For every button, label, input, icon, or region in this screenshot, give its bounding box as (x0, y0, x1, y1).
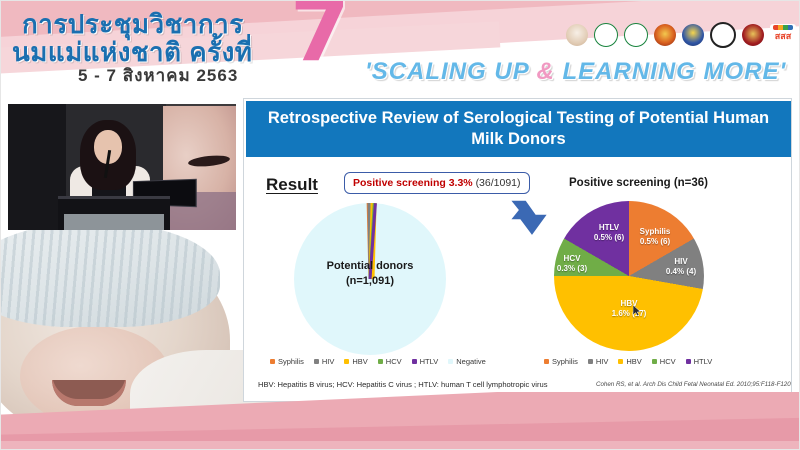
tagline-part2: LEARNING MORE' (555, 58, 786, 85)
legend-label: HIV (322, 357, 335, 366)
sponsor-logo-3-icon (624, 23, 648, 47)
sponsor-logo-2-icon (594, 23, 618, 47)
conference-header-banner: 7 การประชุมวิชาการ นมแม่แห่งชาติ ครั้งที… (0, 0, 800, 95)
legend-item-hcv-left: HCV (378, 357, 402, 366)
result-label: Result (266, 175, 318, 195)
slice-label-name: Syphilis (628, 227, 682, 237)
thaihealth-label: สสส (770, 29, 796, 43)
slice-label-name: HTLV (584, 223, 634, 233)
tagline-part1: 'SCALING UP (365, 58, 537, 85)
legend-label: Syphilis (552, 357, 578, 366)
legend-item-hiv-left: HIV (314, 357, 335, 366)
legend-item-hiv-right: HIV (588, 357, 609, 366)
slice-label-value: 0.3% (3) (549, 264, 595, 274)
conference-tagline: 'SCALING UP & LEARNING MORE' (365, 58, 786, 86)
sponsor-logo-4-icon (654, 24, 676, 46)
left-pie-center-line2: (n=1,091) (294, 274, 446, 289)
sponsor-logo-6-icon (710, 22, 736, 48)
presentation-screen: 7 การประชุมวิชาการ นมแม่แห่งชาติ ครั้งที… (0, 0, 800, 450)
legend-item-syphilis-right: Syphilis (544, 357, 578, 366)
legend-label: HTLV (420, 357, 439, 366)
left-pie-center-line1: Potential donors (294, 259, 446, 274)
legend-label: HBV (352, 357, 367, 366)
slice-label-name: HIV (659, 257, 703, 267)
baby-cap-stripes (0, 230, 220, 327)
slide-footnote: HBV: Hepatitis B virus; HCV: Hepatitis C… (258, 380, 548, 389)
callout-value: (36/1091) (476, 177, 521, 189)
slice-label-name: HBV (599, 299, 659, 309)
slice-label-value: 1.6% (17) (599, 309, 659, 319)
legend-label: HCV (386, 357, 402, 366)
conference-date-thai: 5 - 7 สิงหาคม 2563 (78, 62, 238, 89)
sponsor-logos-row: สสส (566, 22, 796, 48)
right-chart-heading: Positive screening (n=36) (569, 177, 708, 189)
sponsor-logo-5-icon (682, 24, 704, 46)
sponsor-logo-thaihealth-icon: สสส (770, 24, 796, 46)
slice-label-syphilis: Syphilis 0.5% (6) (628, 227, 682, 248)
sponsor-logo-7-icon (742, 24, 764, 46)
right-chart-legend: Syphilis HIV HBV HCV HTLV (544, 357, 712, 366)
left-chart-legend: Syphilis HIV HBV HCV HTLV Negative (270, 357, 486, 366)
slide-panel: Retrospective Review of Serological Test… (243, 98, 792, 402)
legend-label: Negative (456, 357, 486, 366)
legend-label: HTLV (694, 357, 713, 366)
left-pie-center-label: Potential donors (n=1,091) (294, 259, 446, 289)
slice-label-hcv: HCV 0.3% (3) (549, 254, 595, 275)
slice-label-hbv: HBV 1.6% (17) (599, 299, 659, 320)
footer-pink-bands (0, 392, 800, 450)
slice-label-value: 0.5% (6) (628, 237, 682, 247)
legend-label: HBV (626, 357, 641, 366)
slice-label-value: 0.5% (6) (584, 233, 634, 243)
slice-label-value: 0.4% (4) (659, 267, 703, 277)
tagline-ampersand: & (537, 58, 555, 85)
podium-base (64, 214, 164, 230)
slide-title: Retrospective Review of Serological Test… (246, 101, 791, 157)
mouse-cursor-icon (633, 305, 641, 316)
legend-item-syphilis-left: Syphilis (270, 357, 304, 366)
legend-label: HIV (596, 357, 609, 366)
speaker-webcam-feed[interactable] (8, 104, 236, 230)
legend-label: HCV (660, 357, 676, 366)
blue-chevron-arrow-icon (506, 194, 552, 240)
legend-item-hbv-right: HBV (618, 357, 641, 366)
legend-item-htlv-right: HTLV (686, 357, 713, 366)
sponsor-logo-1-icon (566, 24, 588, 46)
legend-item-negative-left: Negative (448, 357, 486, 366)
positive-screening-callout: Positive screening 3.3% (36/1091) (344, 172, 530, 194)
legend-item-hbv-left: HBV (344, 357, 367, 366)
slice-label-name: HCV (549, 254, 595, 264)
slice-label-hiv: HIV 0.4% (4) (659, 257, 703, 278)
slice-label-htlv: HTLV 0.5% (6) (584, 223, 634, 244)
legend-item-htlv-left: HTLV (412, 357, 439, 366)
footer-band-c (0, 441, 800, 450)
edition-number: 7 (290, 0, 350, 74)
baby-cap (0, 230, 220, 327)
slide-citation: Cohen RS, et al. Arch Dis Child Fetal Ne… (596, 381, 792, 388)
callout-key: Positive screening 3.3% (353, 177, 473, 189)
legend-label: Syphilis (278, 357, 304, 366)
legend-item-hcv-right: HCV (652, 357, 676, 366)
